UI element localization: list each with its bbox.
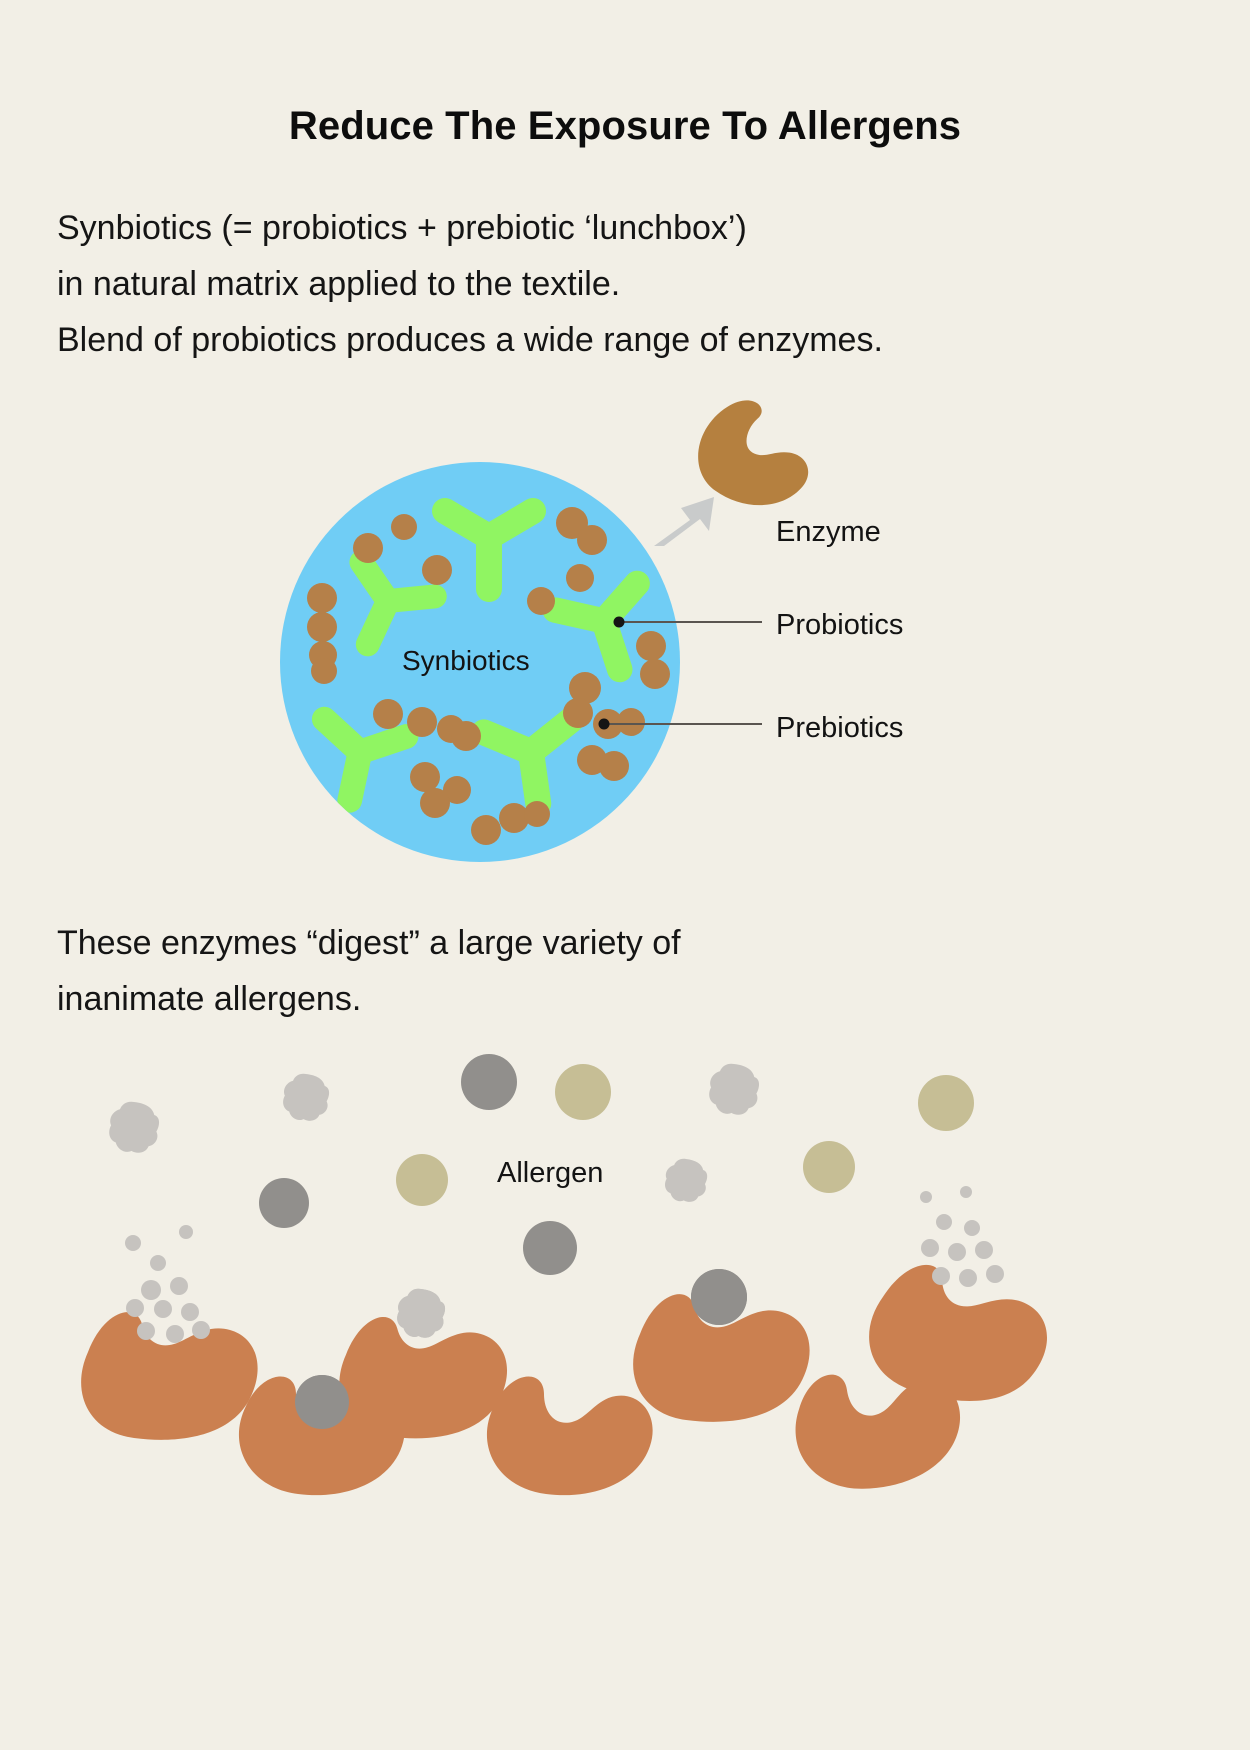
allergen-circle [259, 1178, 309, 1228]
allergen-circle [918, 1075, 974, 1131]
digested-crumbs [125, 1225, 210, 1343]
enzyme-shape [688, 391, 823, 518]
allergen-flower [109, 1102, 159, 1153]
digest-paragraph: These enzymes “digest” a large variety o… [57, 915, 681, 1027]
enzyme-digesting [858, 1186, 1057, 1417]
label-probiotics: Probiotics [776, 609, 903, 642]
leader-line-probiotics [614, 617, 763, 628]
allergen-circle [396, 1154, 448, 1206]
probiotic-glyph [555, 583, 661, 682]
enzyme-digesting [339, 1317, 507, 1438]
allergen-circle [295, 1375, 349, 1429]
enzyme-crescent [487, 1376, 653, 1495]
enzyme-crescent [788, 1357, 969, 1498]
allergen-flower-captured [397, 1289, 445, 1338]
allergen-circle [523, 1221, 577, 1275]
allergen-flower [283, 1074, 329, 1121]
allergen-circle [803, 1141, 855, 1193]
label-allergen: Allergen [497, 1157, 603, 1190]
allergen-circle-captured [691, 1269, 747, 1325]
digested-crumbs [920, 1186, 1004, 1287]
probiotic-glyph [445, 511, 533, 589]
label-synbiotics: Synbiotics [402, 645, 530, 677]
page-title: Reduce The Exposure To Allergens [0, 104, 1250, 149]
enzyme-digesting [633, 1269, 809, 1422]
allergen-circle [461, 1054, 517, 1110]
probiotic-glyph [309, 719, 406, 809]
allergen-circle [555, 1064, 611, 1120]
enzyme-digesting [81, 1225, 257, 1440]
allergen-flower [709, 1064, 759, 1115]
intro-paragraph: Synbiotics (= probiotics + prebiotic ‘lu… [57, 200, 883, 368]
label-enzyme: Enzyme [776, 516, 881, 549]
leader-line-prebiotics [599, 719, 763, 730]
allergen-particles [109, 1054, 974, 1429]
enzyme-crescent [239, 1376, 405, 1495]
allergen-flower [665, 1159, 707, 1202]
probiotic-glyph [484, 720, 582, 809]
label-prebiotics: Prebiotics [776, 712, 903, 745]
infographic-poster: Reduce The Exposure To Allergens Synbiot… [0, 0, 1250, 1750]
arrow-icon [654, 497, 714, 546]
allergen-circle [691, 1269, 747, 1325]
allergen-circle-captured [295, 1375, 349, 1429]
allergen-flower [397, 1289, 445, 1338]
